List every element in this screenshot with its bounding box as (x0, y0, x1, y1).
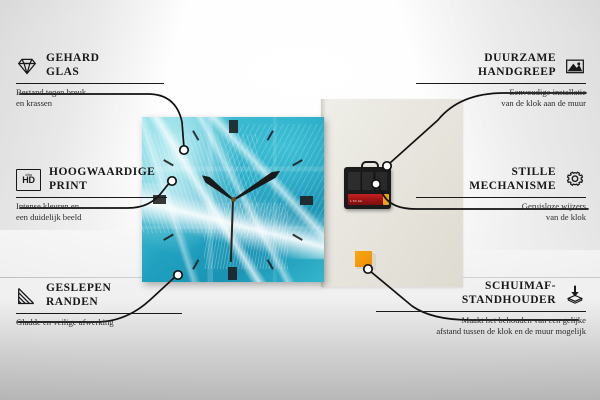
callout-hoogwaardige-print: ultra HD HOOGWAARDIGE PRINT Intense kleu… (16, 166, 192, 223)
callout-title: GEHARD GLAS (46, 52, 99, 79)
callout-geslepen-randen: GESLEPEN RANDEN Gladde en veilige afwerk… (16, 282, 200, 328)
endpoint-dot-schuimafstandhouder (364, 265, 372, 273)
picture-frame-icon (564, 56, 586, 76)
ultra-hd-main-text: HD (22, 176, 34, 185)
endpoint-dot-duurzame-handgreep (383, 162, 391, 170)
diamond-icon (16, 56, 38, 76)
callout-stille-mechanisme: STILLE MECHANISME Geruisloze wijzers van… (404, 166, 586, 223)
callout-title: STILLE MECHANISME (469, 166, 556, 193)
callout-subtitle: Intense kleuren en een duidelijk beeld (16, 201, 192, 223)
callout-schuimafstandhouder: SCHUIMAF- STANDHOUDER Maakt het behouden… (364, 280, 586, 337)
callout-gehard-glas: GEHARD GLAS Bestand tegen breuk en krass… (16, 52, 186, 109)
callout-subtitle: Geruisloze wijzers van de klok (404, 201, 586, 223)
callout-rule (376, 311, 586, 312)
beveled-edge-icon (16, 286, 38, 306)
infographic-canvas: 1.5V AA (0, 0, 600, 400)
endpoint-dot-stille-mechanisme (372, 180, 380, 188)
endpoint-dot-geslepen-randen (174, 271, 182, 279)
callout-rule (16, 83, 164, 84)
callout-subtitle: Gladde en veilige afwerking (16, 317, 200, 328)
callout-rule (16, 313, 182, 314)
callout-rule (416, 83, 586, 84)
gear-icon (564, 170, 586, 190)
callout-duurzame-handgreep: DUURZAME HANDGREEP Eenvoudige installati… (404, 52, 586, 109)
callout-subtitle: Eenvoudige installatie van de klok aan d… (404, 87, 586, 109)
callout-subtitle: Maakt het behouden van een gelijke afsta… (364, 315, 586, 337)
callout-rule (416, 197, 586, 198)
ultra-hd-badge-icon: ultra HD (16, 169, 41, 191)
callout-subtitle: Bestand tegen breuk en krassen (16, 87, 186, 109)
callout-title: DUURZAME HANDGREEP (478, 52, 556, 79)
connector-endpoint-dots (168, 146, 391, 279)
callout-title: SCHUIMAF- STANDHOUDER (462, 280, 556, 307)
callout-rule (16, 197, 167, 198)
endpoint-dot-gehard-glas (180, 146, 188, 154)
callout-title: HOOGWAARDIGE PRINT (49, 166, 155, 193)
arrow-down-onto-block-icon (564, 284, 586, 304)
callout-title: GESLEPEN RANDEN (46, 282, 111, 309)
